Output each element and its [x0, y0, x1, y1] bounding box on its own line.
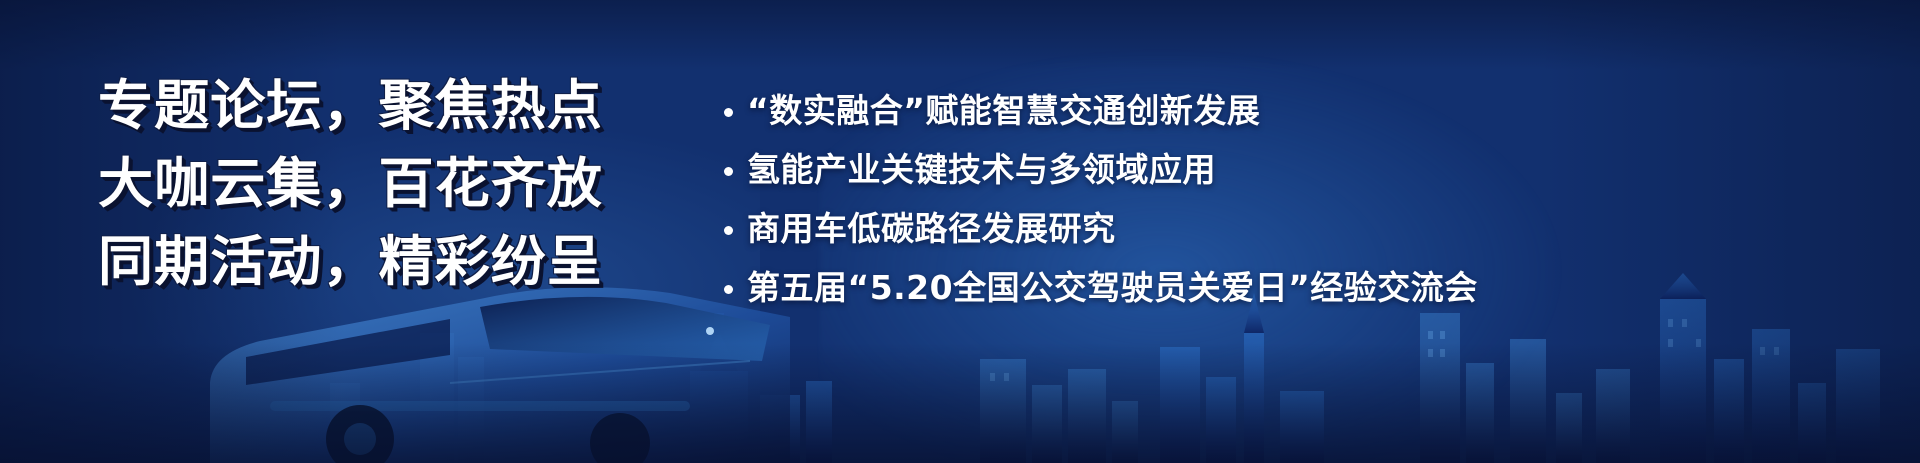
topic-list: “数实融合”赋能智慧交通创新发展 氢能产业关键技术与多领域应用 商用车低碳路径发…: [724, 92, 1478, 308]
top-fade-overlay: [0, 0, 1920, 70]
list-item: “数实融合”赋能智慧交通创新发展: [724, 92, 1478, 131]
list-item: 第五届“5.20全国公交驾驶员关爱日”经验交流会: [724, 269, 1478, 308]
headline-line-2: 大咖云集，百花齐放: [98, 156, 649, 212]
bullet-dot-icon: [724, 226, 733, 235]
headline-line-1: 专题论坛，聚焦热点: [98, 78, 649, 134]
event-banner: 专题论坛，聚焦热点 大咖云集，百花齐放 同期活动，精彩纷呈 “数实融合”赋能智慧…: [0, 0, 1920, 463]
bullet-dot-icon: [724, 108, 733, 117]
list-item-label: 氢能产业关键技术与多领域应用: [747, 151, 1216, 190]
list-item: 氢能产业关键技术与多领域应用: [724, 151, 1478, 190]
list-item-label: 商用车低碳路径发展研究: [747, 210, 1116, 249]
headline-block: 专题论坛，聚焦热点 大咖云集，百花齐放 同期活动，精彩纷呈: [98, 78, 638, 290]
bullet-dot-icon: [724, 167, 733, 176]
bullet-dot-icon: [724, 285, 733, 294]
bottom-fade-overlay: [0, 343, 1920, 463]
list-item-label: “数实融合”赋能智慧交通创新发展: [747, 92, 1260, 131]
list-item: 商用车低碳路径发展研究: [724, 210, 1478, 249]
list-item-label: 第五届“5.20全国公交驾驶员关爱日”经验交流会: [747, 269, 1478, 308]
headline-line-3: 同期活动，精彩纷呈: [98, 234, 649, 290]
